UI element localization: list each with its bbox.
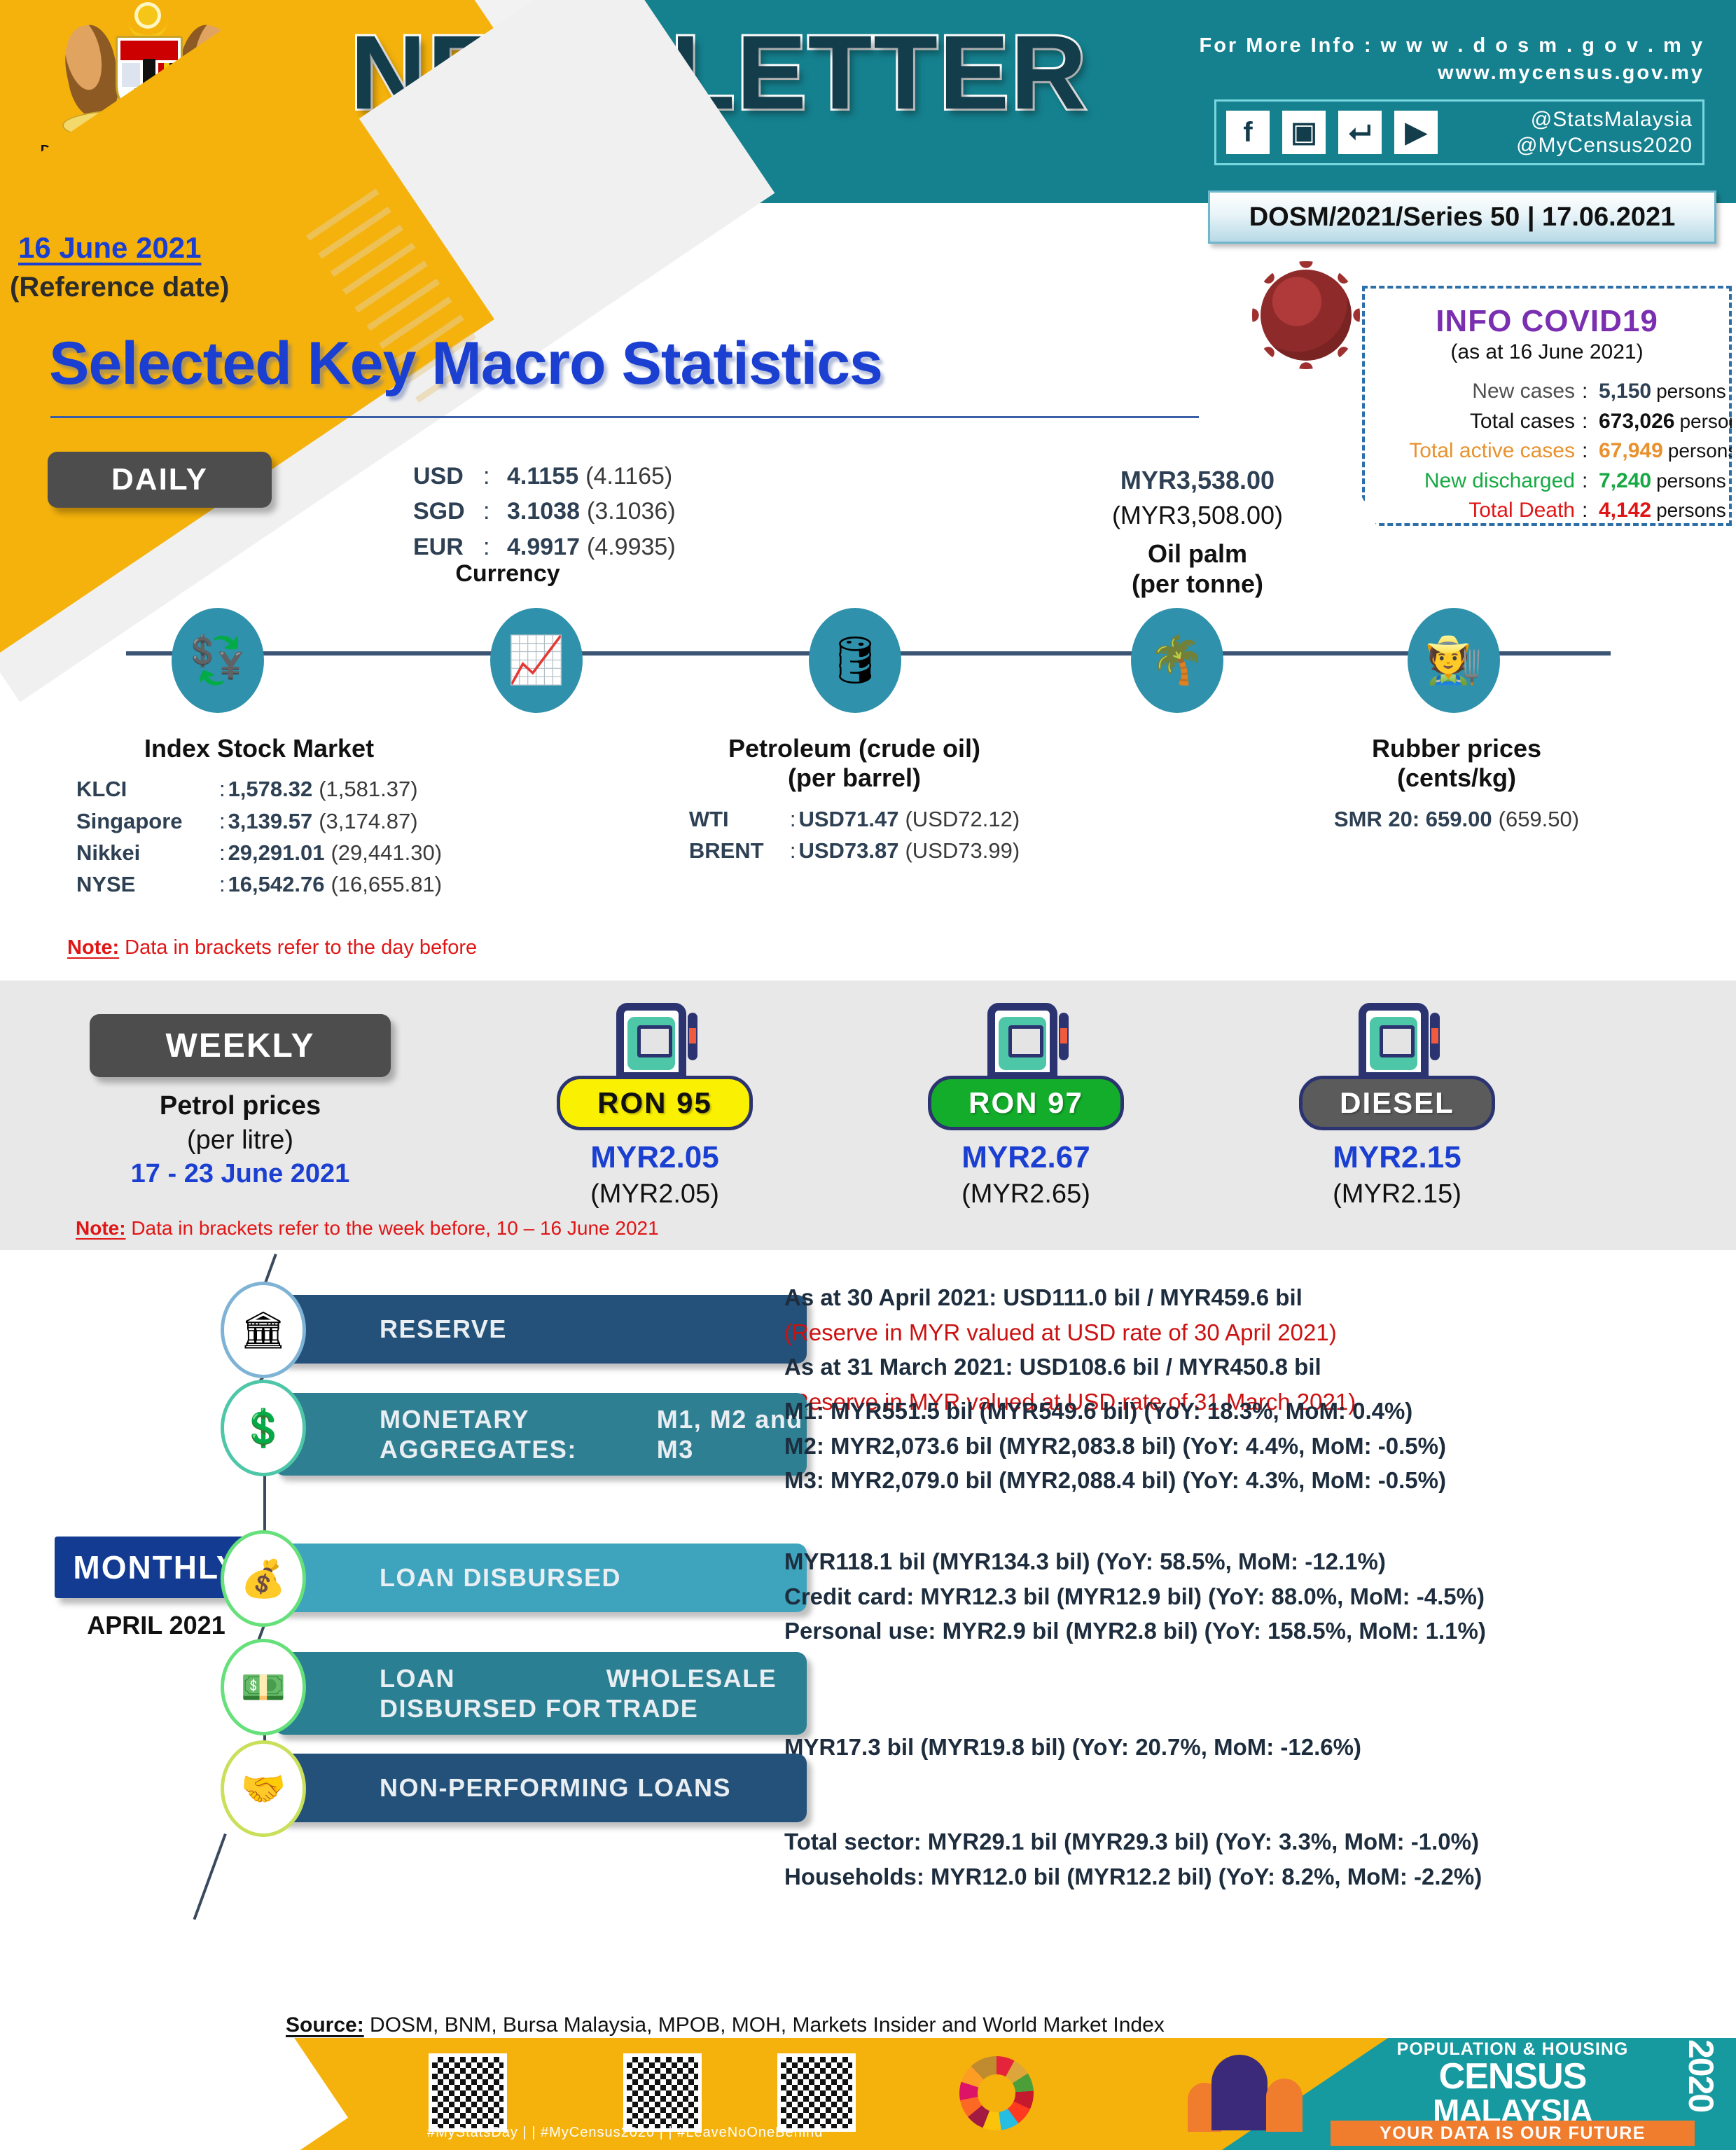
hand-coins-icon: 🤝	[224, 1744, 303, 1833]
currency-colon: :	[483, 529, 507, 564]
instagram-icon[interactable]: ▣	[1282, 111, 1326, 154]
twitter-icon[interactable]: ⮠	[1338, 111, 1382, 154]
monthly-row-label-line: MONETARY AGGREGATES:	[380, 1404, 657, 1464]
timeline-connector	[263, 1732, 266, 1744]
monthly-period: APRIL 2021	[55, 1611, 258, 1640]
social-links-box: f ▣ ⮠ ▶ @StatsMalaysia @MyCensus2020	[1214, 99, 1704, 165]
monthly-row-values: MYR17.3 bil (MYR19.8 bil) (YoY: 20.7%, M…	[784, 1730, 1361, 1765]
more-info-text: For More Info : w w w . d o s m . g o v …	[1200, 32, 1705, 87]
covid-stat-value: 5,150	[1593, 377, 1651, 407]
fuel-price-diesel: MYR2.15	[1282, 1140, 1513, 1175]
monthly-row-label-line: NON-PERFORMING LOANS	[380, 1773, 731, 1803]
covid-stat-unit: persons	[1651, 467, 1726, 495]
row-value: USD73.87	[798, 835, 898, 866]
money-arrows-icon: 💲	[224, 1383, 303, 1473]
daily-section-badge: DAILY	[48, 452, 272, 508]
monthly-row-values: Total sector: MYR29.1 bil (MYR29.3 bil) …	[784, 1824, 1482, 1894]
petrol-prices-label: Petrol prices (per litre) 17 - 23 June 2…	[90, 1089, 391, 1191]
monthly-row-label-line: LOAN DISBURSED	[380, 1562, 621, 1593]
monthly-value-line: Personal use: MYR2.9 bil (MYR2.8 bil) (Y…	[784, 1614, 1486, 1649]
fuel-card-ron95: RON 95 MYR2.05 (MYR2.05)	[539, 1003, 770, 1209]
currency-rates-list: USD:4.1155(4.1165)SGD:3.1038(3.1036)EUR:…	[413, 459, 676, 564]
rubber-value-row: SMR 20: 659.00 (659.50)	[1334, 803, 1579, 835]
covid-subtitle: (as at 16 June 2021)	[1365, 340, 1729, 364]
fuel-badge-ron97: RON 97	[928, 1076, 1124, 1130]
fuel-pump-icon	[602, 1003, 707, 1087]
fuel-card-diesel: DIESEL MYR2.15 (MYR2.15)	[1282, 1003, 1513, 1209]
petroleum-block: Petroleum (crude oil) (per barrel) WTI:U…	[672, 734, 1036, 866]
monthly-value-line: As at 31 March 2021: USD108.6 bil / MYR4…	[784, 1350, 1356, 1385]
title-divider	[50, 416, 1199, 418]
census-wordmark: POPULATION & HOUSING CENSUS MALAYSIA	[1317, 2039, 1709, 2127]
petroleum-title-line1: Petroleum (crude oil)	[728, 734, 980, 763]
data-row: KLCI:1,578.32(1,581.37)	[76, 773, 442, 805]
petroleum-list: WTI:USD71.47(USD72.12)BRENT:USD73.87(USD…	[689, 803, 1020, 867]
monthly-row-values: MYR118.1 bil (MYR134.3 bil) (YoY: 58.5%,…	[784, 1544, 1486, 1649]
reference-date: 16 June 2021	[18, 231, 202, 265]
oil-palm-label: Oil palm (per tonne)	[1064, 539, 1331, 599]
row-prev: (1,581.37)	[312, 773, 417, 805]
currency-colon: :	[483, 494, 507, 529]
row-value: 3,139.57	[228, 805, 313, 837]
youtube-icon[interactable]: ▶	[1394, 111, 1438, 154]
money-bag-hand-icon: 💵	[224, 1642, 303, 1732]
currency-value: 3.1038	[507, 494, 580, 529]
oil-palm-label-line2: (per tonne)	[1064, 569, 1331, 599]
row-prev: (16,655.81)	[324, 868, 442, 900]
rubber-block: Rubber prices (cents/kg) SMR 20: 659.00 …	[1282, 734, 1632, 835]
petroleum-title-line2: (per barrel)	[788, 763, 921, 792]
sdg-wheel-icon	[959, 2056, 1034, 2130]
currency-row: EUR:4.9917(4.9935)	[413, 529, 676, 564]
more-info-line1: For More Info : w w w . d o s m . g o v …	[1200, 32, 1705, 60]
covid-stat-colon: :	[1582, 377, 1593, 407]
currency-code: EUR	[413, 529, 483, 564]
monthly-value-line: As at 30 April 2021: USD111.0 bil / MYR4…	[784, 1280, 1356, 1315]
currency-code: USD	[413, 459, 483, 494]
covid-stat-list: New cases:5,150personsTotal cases:673,02…	[1365, 377, 1729, 526]
monthly-row-label-bar: NON-PERFORMING LOANS	[275, 1754, 807, 1822]
currency-code: SGD	[413, 494, 483, 529]
weekly-note-text: Data in brackets refer to the week befor…	[126, 1217, 659, 1239]
covid-stat-label: Total active cases	[1365, 436, 1582, 466]
monthly-row-label-line: WHOLESALE TRADE	[606, 1663, 807, 1724]
monthly-value-line: M1: MYR551.5 bil (MYR549.6 bil) (YoY: 18…	[784, 1394, 1446, 1429]
footer-hashtags: #MyStatsDay | | #MyCensus2020 | | #Leave…	[427, 2125, 823, 2141]
currency-colon: :	[483, 459, 507, 494]
currency-value: 4.9917	[507, 529, 580, 564]
covid-stat-unit: persons	[1674, 408, 1736, 436]
daily-note-text: Data in brackets refer to the day before	[119, 936, 477, 959]
facebook-icon[interactable]: f	[1226, 111, 1270, 154]
currency-row: USD:4.1155(4.1165)	[413, 459, 676, 494]
daily-note-prefix: Note:	[67, 936, 119, 959]
source-prefix: Source:	[286, 2013, 364, 2037]
covid-stat-row: Total active cases:67,949persons	[1365, 436, 1729, 466]
row-prev: (USD72.12)	[898, 803, 1020, 835]
covid-stat-label: Total cases	[1365, 407, 1582, 437]
index-stock-title: Index Stock Market	[63, 734, 455, 763]
oil-palm-block: MYR3,538.00 (MYR3,508.00) Oil palm (per …	[1064, 466, 1331, 599]
row-colon: :	[216, 837, 228, 868]
covid-stat-row: Total cases:673,026persons	[1365, 407, 1729, 437]
covid-stat-label: New discharged	[1365, 466, 1582, 497]
row-prev: (USD73.99)	[898, 835, 1020, 866]
daily-note: Note: Data in brackets refer to the day …	[67, 936, 477, 959]
page-title: Selected Key Macro Statistics	[49, 329, 882, 398]
handle-stats-malaysia: @StatsMalaysia	[1516, 106, 1693, 133]
covid-stat-value: 67,949	[1593, 436, 1663, 466]
covid-stat-row: New discharged:7,240persons	[1365, 466, 1729, 497]
monthly-value-line: Households: MYR12.0 bil (MYR12.2 bil) (Y…	[784, 1859, 1482, 1894]
oil-pump-icon: 🛢	[809, 608, 901, 713]
loan-coin-icon: 💰	[224, 1534, 303, 1623]
covid-stat-label: New cases	[1365, 377, 1582, 407]
monthly-value-line: MYR118.1 bil (MYR134.3 bil) (YoY: 58.5%,…	[784, 1544, 1486, 1579]
timeline-connector	[256, 1623, 266, 1643]
fuel-badge-diesel: DIESEL	[1299, 1076, 1495, 1130]
covid-stat-label: Total Death	[1365, 496, 1582, 526]
monthly-value-line: Total sector: MYR29.1 bil (MYR29.3 bil) …	[784, 1824, 1482, 1859]
row-name: Singapore	[76, 805, 216, 837]
source-line: Source: DOSM, BNM, Bursa Malaysia, MPOB,…	[286, 2013, 1165, 2037]
fuel-prev-ron97: (MYR2.65)	[910, 1179, 1141, 1209]
fuel-pump-icon	[1345, 1003, 1450, 1087]
currency-row: SGD:3.1038(3.1036)	[413, 494, 676, 529]
monthly-value-line: (Reserve in MYR valued at USD rate of 30…	[784, 1315, 1356, 1350]
fuel-prev-diesel: (MYR2.15)	[1282, 1179, 1513, 1209]
data-row: NYSE:16,542.76(16,655.81)	[76, 868, 442, 900]
covid-stat-row: New cases:5,150persons	[1365, 377, 1729, 407]
census-line2: CENSUS	[1317, 2060, 1709, 2095]
row-colon: :	[216, 868, 228, 900]
row-name: BRENT	[689, 835, 787, 866]
covid-stat-value: 673,026	[1593, 407, 1674, 437]
oil-palm-label-line1: Oil palm	[1064, 539, 1331, 569]
covid-stat-colon: :	[1582, 496, 1593, 526]
fuel-card-ron97: RON 97 MYR2.67 (MYR2.65)	[910, 1003, 1141, 1209]
covid-stat-unit: persons	[1663, 437, 1736, 465]
data-row: BRENT:USD73.87(USD73.99)	[689, 835, 1020, 866]
reference-date-note: (Reference date)	[10, 272, 229, 303]
census-tagline: YOUR DATA IS OUR FUTURE	[1331, 2121, 1695, 2146]
star-icon	[138, 6, 158, 25]
currency-prev: (3.1036)	[580, 494, 676, 529]
covid-stat-unit: persons	[1651, 377, 1726, 405]
row-colon: :	[787, 803, 799, 835]
rubber-title: Rubber prices (cents/kg)	[1282, 734, 1632, 793]
fuel-price-ron95: MYR2.05	[539, 1140, 770, 1175]
row-colon: :	[787, 835, 799, 866]
currency-value: 4.1155	[507, 459, 578, 494]
monthly-value-line: MYR17.3 bil (MYR19.8 bil) (YoY: 20.7%, M…	[784, 1730, 1361, 1765]
newsletter-page: DEPARTMENT OF STATISTICS MALAYSIA NEWSLE…	[0, 0, 1736, 2150]
currency-label: Currency	[413, 560, 602, 588]
row-value: 1,578.32	[228, 773, 313, 805]
monthly-value-line: M2: MYR2,073.6 bil (MYR2,083.8 bil) (YoY…	[784, 1429, 1446, 1464]
monthly-value-line: Credit card: MYR12.3 bil (MYR12.9 bil) (…	[784, 1579, 1486, 1614]
stock-chart-icon: 📈	[490, 608, 583, 713]
row-value: 29,291.01	[228, 837, 325, 868]
row-name: WTI	[689, 803, 787, 835]
petrol-label-line2: (per litre)	[90, 1123, 391, 1158]
monthly-row-label-bar: MONETARY AGGREGATES:M1, M2 and M3	[275, 1393, 807, 1476]
social-handles: @StatsMalaysia @MyCensus2020	[1516, 106, 1693, 159]
coronavirus-icon	[1261, 270, 1352, 361]
covid-stat-unit: persons	[1651, 497, 1726, 525]
monthly-row-values: M1: MYR551.5 bil (MYR549.6 bil) (YoY: 18…	[784, 1394, 1446, 1498]
row-prev: (29,441.30)	[324, 837, 442, 868]
weekly-note-prefix: Note:	[76, 1217, 126, 1239]
covid-stat-value: 4,142	[1593, 496, 1651, 526]
data-row: Singapore:3,139.57(3,174.87)	[76, 805, 442, 837]
source-text: DOSM, BNM, Bursa Malaysia, MPOB, MOH, Ma…	[364, 2013, 1165, 2037]
row-colon: :	[216, 805, 228, 837]
census-year: 2020	[1681, 2039, 1721, 2111]
covid-stat-colon: :	[1582, 436, 1593, 466]
oil-palm-prev: (MYR3,508.00)	[1064, 501, 1331, 530]
covid-stat-colon: :	[1582, 407, 1593, 437]
row-name: Nikkei	[76, 837, 216, 868]
fuel-pump-icon	[973, 1003, 1078, 1087]
rubber-value: SMR 20: 659.00	[1334, 803, 1492, 835]
fuel-badge-ron95: RON 95	[557, 1076, 753, 1130]
row-value: USD71.47	[798, 803, 898, 835]
currency-exchange-icon: 💱	[172, 608, 264, 713]
covid-stat-value: 7,240	[1593, 466, 1651, 497]
handle-mycensus2020: @MyCensus2020	[1516, 132, 1693, 159]
oil-palm-value: MYR3,538.00	[1064, 466, 1331, 495]
covid-stat-colon: :	[1582, 466, 1593, 497]
monthly-row-label-line: LOAN DISBURSED FOR	[380, 1663, 606, 1724]
data-row: Nikkei:29,291.01(29,441.30)	[76, 837, 442, 868]
timeline-connector	[263, 1473, 266, 1534]
data-row: WTI:USD71.47(USD72.12)	[689, 803, 1020, 835]
bank-building-icon: 🏛	[224, 1285, 303, 1375]
census-family-icon	[1183, 2051, 1317, 2135]
monthly-row-label-bar: RESERVE	[275, 1295, 807, 1364]
petrol-label-line1: Petrol prices	[90, 1089, 391, 1123]
page-footer: #MyStatsDay | | #MyCensus2020 | | #Leave…	[0, 2038, 1736, 2150]
currency-prev: (4.9935)	[580, 529, 676, 564]
rubber-tapper-icon: 🧑‍🌾	[1408, 608, 1500, 713]
qr-code-mycensus[interactable]	[777, 2053, 856, 2132]
rubber-title-line2: (cents/kg)	[1397, 763, 1516, 792]
monthly-row-label-bar: LOAN DISBURSED	[275, 1544, 807, 1612]
monthly-row-label-bar: LOAN DISBURSED FORWHOLESALE TRADE	[275, 1652, 807, 1735]
qr-code-facebook[interactable]	[623, 2053, 702, 2132]
qr-code-dosm[interactable]	[429, 2053, 507, 2132]
rubber-prev: (659.50)	[1492, 803, 1579, 835]
covid-stat-row: Total Death:4,142persons	[1365, 496, 1729, 526]
timeline-connector-bottom	[193, 1833, 227, 1920]
row-name: KLCI	[76, 773, 216, 805]
rubber-title-line1: Rubber prices	[1372, 734, 1541, 763]
series-badge: DOSM/2021/Series 50 | 17.06.2021	[1208, 190, 1716, 244]
more-info-line2: www.mycensus.gov.my	[1200, 60, 1705, 87]
fuel-prev-ron95: (MYR2.05)	[539, 1179, 770, 1209]
covid-title: INFO COVID19	[1365, 304, 1729, 339]
row-value: 16,542.76	[228, 868, 325, 900]
row-colon: :	[216, 773, 228, 805]
petrol-label-period: 17 - 23 June 2021	[90, 1157, 391, 1191]
index-stock-list: KLCI:1,578.32(1,581.37)Singapore:3,139.5…	[76, 773, 442, 900]
palm-tree-icon: 🌴	[1131, 608, 1223, 713]
row-prev: (3,174.87)	[312, 805, 417, 837]
monthly-row-label-line: RESERVE	[380, 1314, 507, 1344]
monthly-value-line: M3: MYR2,079.0 bil (MYR2,088.4 bil) (YoY…	[784, 1463, 1446, 1498]
currency-prev: (4.1165)	[578, 459, 672, 494]
fuel-price-ron97: MYR2.67	[910, 1140, 1141, 1175]
covid-info-box: INFO COVID19 (as at 16 June 2021) New ca…	[1362, 286, 1732, 526]
weekly-section-badge: WEEKLY	[90, 1014, 391, 1077]
index-stock-block: Index Stock Market KLCI:1,578.32(1,581.3…	[63, 734, 455, 900]
weekly-note: Note: Data in brackets refer to the week…	[76, 1217, 659, 1240]
row-name: NYSE	[76, 868, 216, 900]
petroleum-title: Petroleum (crude oil) (per barrel)	[672, 734, 1036, 793]
